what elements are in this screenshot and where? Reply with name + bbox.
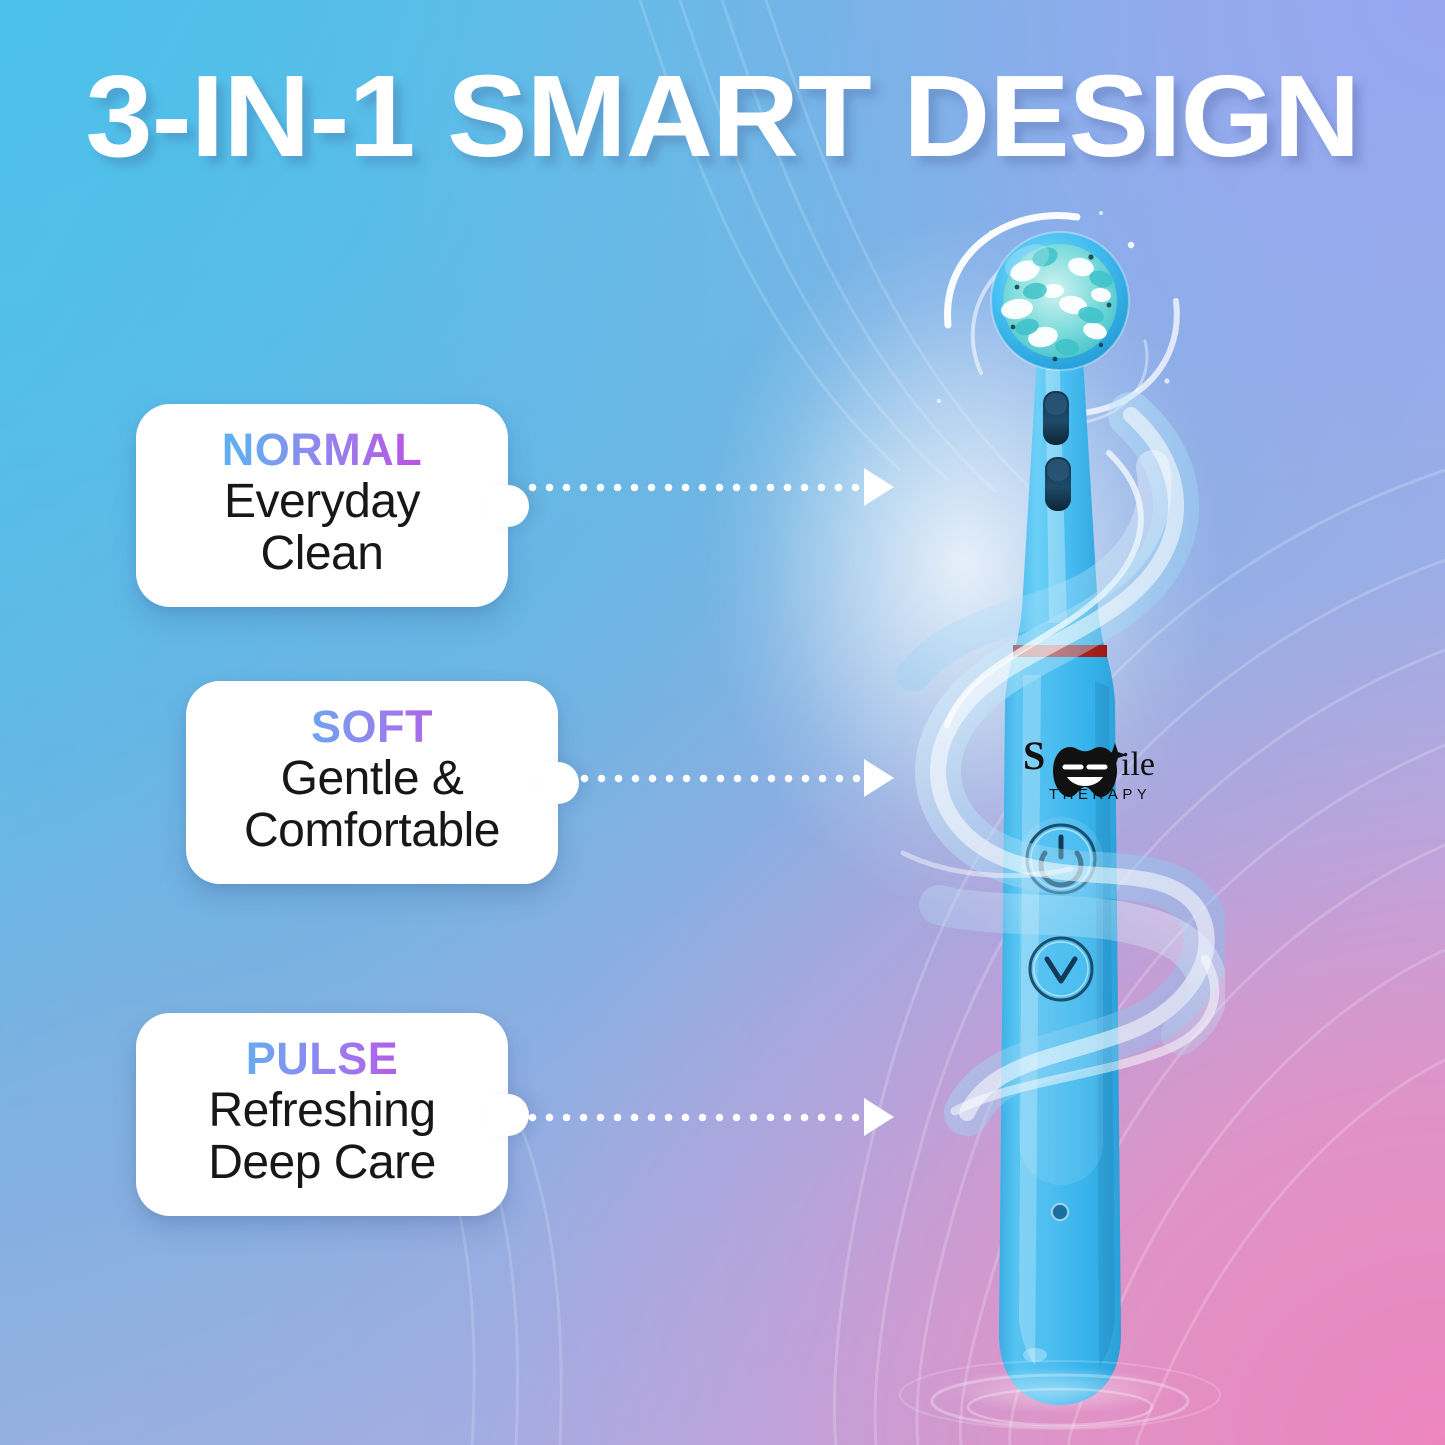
poster-root: 3-IN-1 SMART DESIGN NORMAL Everyday Clea… — [0, 0, 1445, 1445]
svg-text:ile: ile — [1121, 746, 1155, 783]
connector-soft — [576, 765, 894, 791]
page-title: 3-IN-1 SMART DESIGN — [0, 58, 1445, 174]
dotted-line — [576, 774, 862, 783]
dotted-line — [524, 1113, 862, 1122]
svg-text:S: S — [1023, 733, 1045, 778]
arrow-right-icon — [864, 1098, 894, 1136]
feature-card-soft[interactable]: SOFT Gentle & Comfortable — [186, 681, 558, 884]
connector-normal — [524, 474, 894, 500]
led-indicator-icon — [1052, 1204, 1068, 1220]
connector-pulse — [524, 1104, 894, 1130]
card-connector-nub — [487, 1094, 529, 1136]
feature-description: Refreshing Deep Care — [166, 1085, 478, 1191]
feature-description: Everyday Clean — [166, 476, 478, 582]
svg-text:THERAPY: THERAPY — [1049, 786, 1151, 803]
feature-mode-label: NORMAL — [166, 426, 478, 474]
toothbrush-illustration: S ile THERAPY — [895, 205, 1225, 1430]
card-connector-nub — [537, 762, 579, 804]
mode-button[interactable] — [1030, 938, 1092, 1000]
feature-card-normal[interactable]: NORMAL Everyday Clean — [136, 404, 508, 607]
feature-description: Gentle & Comfortable — [216, 753, 528, 859]
feature-mode-label: PULSE — [166, 1035, 478, 1083]
feature-card-pulse[interactable]: PULSE Refreshing Deep Care — [136, 1013, 508, 1216]
card-connector-nub — [487, 485, 529, 527]
base-ripple-glow — [910, 1358, 1210, 1422]
product-toothbrush: S ile THERAPY — [895, 205, 1225, 1430]
dotted-line — [524, 483, 862, 492]
arrow-right-icon — [864, 468, 894, 506]
arrow-right-icon — [864, 759, 894, 797]
feature-mode-label: SOFT — [216, 703, 528, 751]
